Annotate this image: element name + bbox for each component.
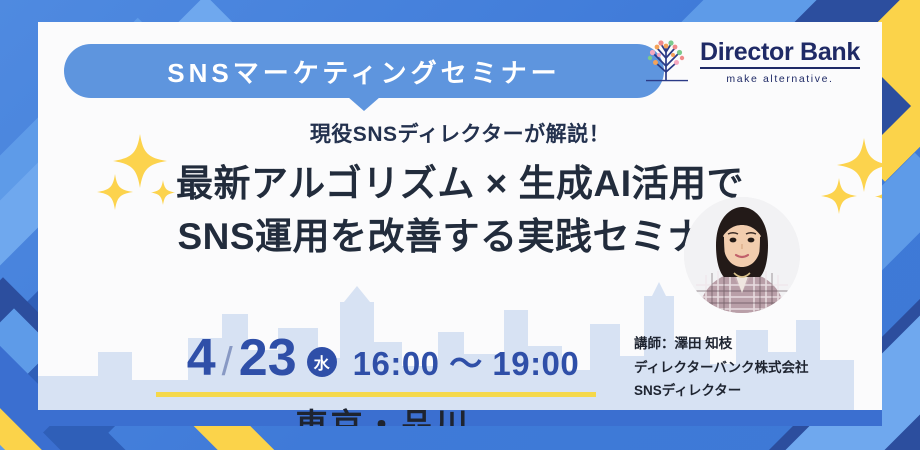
banner-container: SNSマーケティングセミナー bbox=[64, 44, 664, 98]
headline-subtitle: 現役SNSディレクターが解説！ bbox=[38, 118, 882, 148]
speaker-name: 講師：澤田 知枝 bbox=[634, 332, 834, 356]
tree-icon bbox=[638, 36, 694, 88]
speaker-photo bbox=[684, 197, 800, 313]
event-day: 23 bbox=[239, 332, 297, 384]
speaker-info: 講師：澤田 知枝 ディレクターバンク株式会社 SNSディレクター bbox=[634, 332, 834, 403]
content-card: SNSマーケティングセミナー bbox=[38, 22, 882, 426]
event-date-row: 4 / 23 水 16:00 ～ 19:00 bbox=[148, 332, 618, 385]
event-day-of-week-badge: 水 bbox=[307, 347, 337, 377]
brand-logo: Director Bank make alternative. bbox=[638, 36, 860, 88]
event-time: 16:00 ～ 19:00 bbox=[353, 337, 580, 385]
seminar-poster: SNSマーケティングセミナー bbox=[0, 0, 920, 450]
speaker-role: SNSディレクター bbox=[634, 379, 834, 403]
speaker-portrait bbox=[684, 197, 800, 313]
banner-tail-icon bbox=[348, 97, 380, 111]
banner-label: SNSマーケティングセミナー bbox=[167, 53, 560, 90]
speaker-company: ディレクターバンク株式会社 bbox=[634, 356, 834, 380]
event-month: 4 bbox=[187, 332, 216, 384]
seminar-type-banner: SNSマーケティングセミナー bbox=[64, 44, 664, 98]
logo-tagline: make alternative. bbox=[700, 73, 860, 85]
event-location: 東京・品川 bbox=[148, 400, 618, 426]
logo-text-block: Director Bank make alternative. bbox=[700, 39, 860, 85]
logo-name: Director Bank bbox=[700, 39, 860, 69]
date-separator: / bbox=[222, 342, 233, 382]
date-underline bbox=[156, 392, 596, 397]
